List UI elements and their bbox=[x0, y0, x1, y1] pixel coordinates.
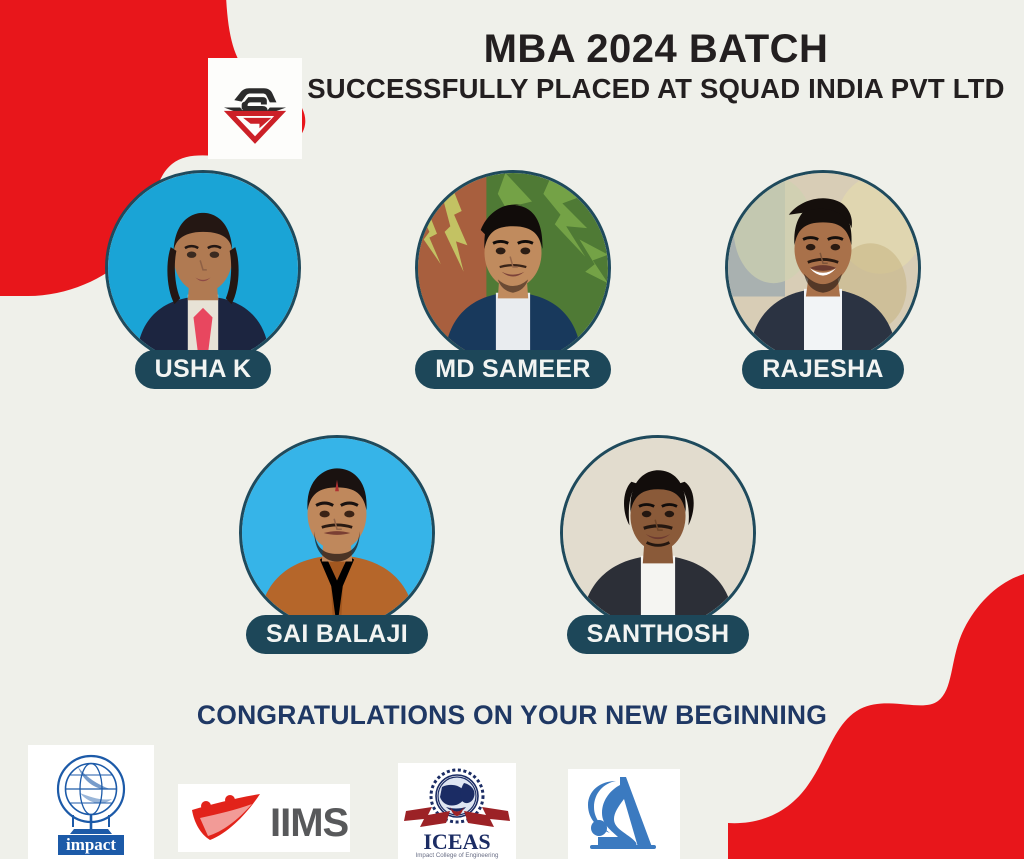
portrait-rajesha bbox=[728, 173, 918, 363]
portrait-ring bbox=[415, 170, 611, 366]
portrait-ring bbox=[725, 170, 921, 366]
student-name-badge: SANTHOSH bbox=[567, 615, 750, 654]
footer-logo-strip: impact IIMS bbox=[0, 739, 1024, 859]
page-subtitle: SUCCESSFULLY PLACED AT SQUAD INDIA PVT L… bbox=[300, 74, 1012, 104]
portrait-ring bbox=[105, 170, 301, 366]
student-card: SANTHOSH bbox=[543, 435, 773, 654]
student-name-badge: USHA K bbox=[135, 350, 272, 389]
page-title: MBA 2024 BATCH bbox=[300, 28, 1012, 70]
squad-india-logo bbox=[208, 58, 302, 159]
portrait-md-sameer bbox=[418, 173, 608, 363]
student-card: MD SAMEER bbox=[398, 170, 628, 389]
student-card: RAJESHA bbox=[708, 170, 938, 389]
student-card: USHA K bbox=[88, 170, 318, 389]
title-block: MBA 2024 BATCH SUCCESSFULLY PLACED AT SQ… bbox=[300, 28, 1012, 105]
svg-text:ICEAS: ICEAS bbox=[423, 829, 490, 854]
portrait-sai-balaji bbox=[242, 438, 432, 628]
student-name-badge: MD SAMEER bbox=[415, 350, 610, 389]
congratulations-text: CONGRATULATIONS ON YOUR NEW BEGINNING bbox=[0, 700, 1024, 731]
svg-text:impact: impact bbox=[66, 835, 116, 854]
squad-india-logo-mark bbox=[218, 72, 292, 146]
student-name-badge: RAJESHA bbox=[742, 350, 904, 389]
student-name-badge: SAI BALAJI bbox=[246, 615, 428, 654]
portrait-santhosh bbox=[563, 438, 753, 628]
poster-canvas: MBA 2024 BATCH SUCCESSFULLY PLACED AT SQ… bbox=[0, 0, 1024, 859]
portrait-ring bbox=[239, 435, 435, 631]
iceas-logo: ICEAS Impact College of Engineering bbox=[398, 763, 516, 859]
portrait-usha-k bbox=[108, 173, 298, 363]
student-card: SAI BALAJI bbox=[222, 435, 452, 654]
sa-logo bbox=[568, 769, 680, 859]
svg-text:IIMS: IIMS bbox=[270, 801, 349, 845]
portrait-ring bbox=[560, 435, 756, 631]
svg-text:Impact College of Engineering: Impact College of Engineering bbox=[416, 852, 499, 859]
impact-logo: impact bbox=[28, 745, 154, 859]
iims-logo: IIMS bbox=[178, 784, 350, 852]
poster-header: MBA 2024 BATCH SUCCESSFULLY PLACED AT SQ… bbox=[0, 18, 1024, 138]
